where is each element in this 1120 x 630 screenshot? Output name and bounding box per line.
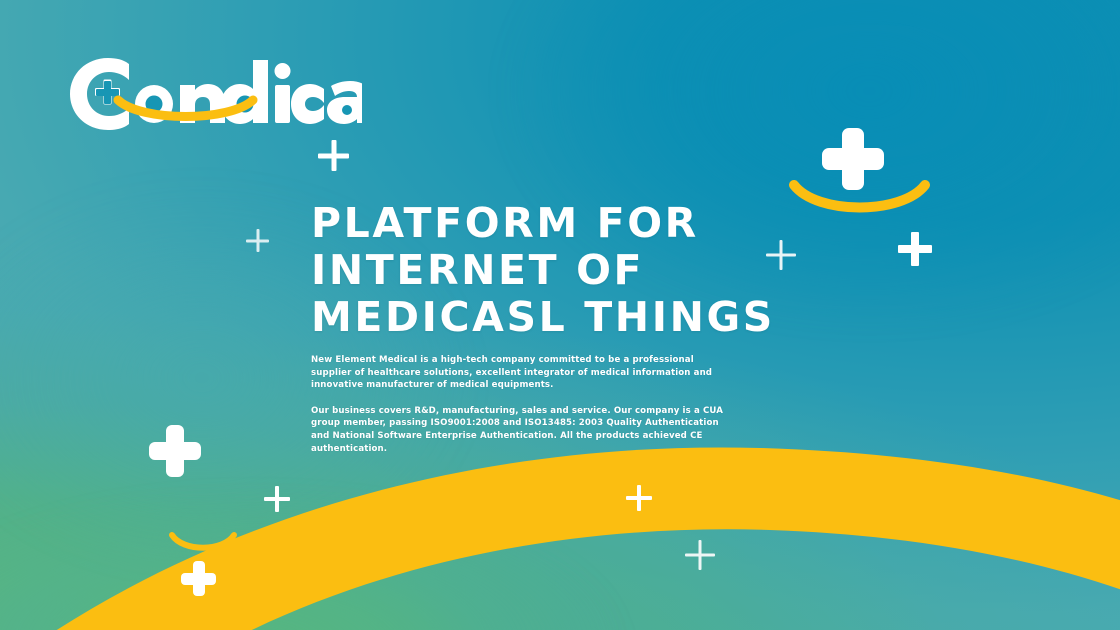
brand-logo[interactable] <box>62 52 362 132</box>
headline-line-1: PLATFORM FOR <box>311 200 781 247</box>
headline-line-3: MEDICASL THINGS <box>311 294 781 341</box>
page-title: PLATFORM FOR INTERNET OF MEDICASL THINGS <box>311 200 781 341</box>
body-copy: New Element Medical is a high-tech compa… <box>311 354 731 455</box>
banner-canvas: PLATFORM FOR INTERNET OF MEDICASL THINGS… <box>0 0 1120 630</box>
body-paragraph-1: New Element Medical is a high-tech compa… <box>311 354 731 392</box>
body-paragraph-2: Our business covers R&D, manufacturing, … <box>311 405 731 455</box>
logo-smile-icon <box>113 95 258 125</box>
headline-line-2: INTERNET OF <box>311 247 781 294</box>
